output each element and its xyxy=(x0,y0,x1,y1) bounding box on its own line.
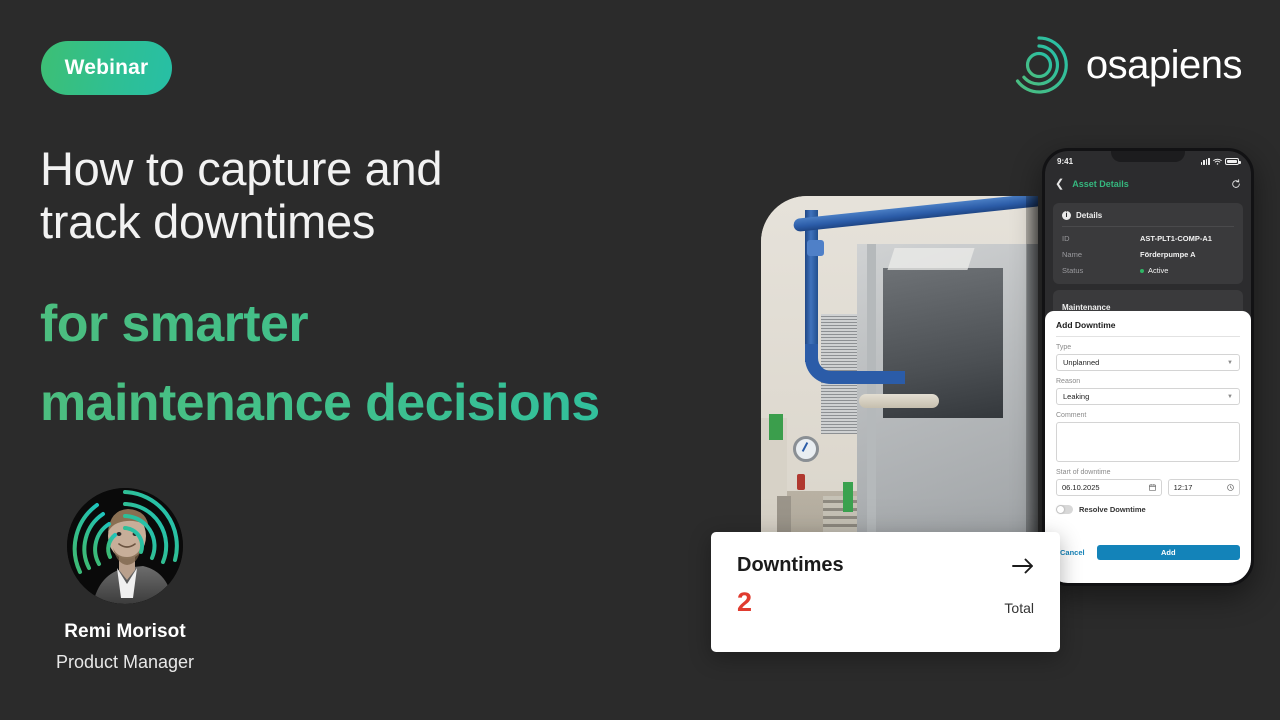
chevron-down-icon: ▼ xyxy=(1227,360,1233,366)
details-card-title: Details xyxy=(1076,211,1102,220)
add-button[interactable]: Add xyxy=(1097,545,1240,560)
detail-key: Status xyxy=(1062,266,1140,275)
speaker-name: Remi Morisot xyxy=(40,621,210,643)
downtimes-total-label: Total xyxy=(1004,600,1034,616)
app-bar: ❮ Asset Details xyxy=(1045,171,1251,197)
app-bar-title: Asset Details xyxy=(1072,179,1129,189)
page-title: How to capture and track downtimes xyxy=(40,143,740,248)
reason-select[interactable]: Leaking ▼ xyxy=(1056,388,1240,405)
speaker-role: Product Manager xyxy=(40,652,210,673)
brand-name: osapiens xyxy=(1086,43,1242,88)
battery-full-icon xyxy=(1225,158,1239,165)
chevron-down-icon: ▼ xyxy=(1227,394,1233,400)
cancel-button[interactable]: Cancel xyxy=(1056,548,1089,557)
sheet-title: Add Downtime xyxy=(1056,320,1240,337)
detail-key: Name xyxy=(1062,250,1140,259)
resolve-downtime-label: Resolve Downtime xyxy=(1079,505,1146,514)
time-input[interactable]: 12:17 xyxy=(1168,479,1240,496)
downtimes-count: 2 xyxy=(737,589,752,616)
clock-icon[interactable] xyxy=(1227,484,1234,491)
downtimes-card[interactable]: Downtimes 2 Total xyxy=(711,532,1060,652)
comment-input[interactable] xyxy=(1056,422,1240,462)
downtimes-card-title: Downtimes xyxy=(737,554,844,577)
detail-value: AST-PLT1-COMP-A1 xyxy=(1140,234,1212,243)
reason-value: Leaking xyxy=(1063,392,1089,401)
webinar-badge: Webinar xyxy=(41,41,172,95)
osapiens-logo-icon xyxy=(1008,34,1070,96)
status-bar: 9:41 xyxy=(1045,151,1251,171)
details-card: i Details ID AST-PLT1-COMP-A1 Name Förde… xyxy=(1053,203,1243,284)
cellular-bars-icon xyxy=(1201,158,1210,165)
type-value: Unplanned xyxy=(1063,358,1099,367)
avatar-rings-icon xyxy=(67,488,183,604)
status-badge: Active xyxy=(1140,266,1168,275)
calendar-icon[interactable] xyxy=(1149,484,1156,491)
status-dot-icon xyxy=(1140,269,1144,273)
datetime-row: 06.10.2025 12:17 xyxy=(1056,479,1240,496)
detail-key: ID xyxy=(1062,234,1140,243)
type-select[interactable]: Unplanned ▼ xyxy=(1056,354,1240,371)
phone-notch xyxy=(1111,151,1185,162)
downtimes-card-footer: 2 Total xyxy=(737,589,1034,616)
speaker-block: Remi Morisot Product Manager xyxy=(40,488,210,673)
resolve-downtime-toggle[interactable] xyxy=(1056,505,1073,514)
downtimes-card-header: Downtimes xyxy=(737,554,1034,577)
details-card-header: i Details xyxy=(1062,211,1234,227)
status-label: Active xyxy=(1148,266,1168,275)
refresh-icon[interactable] xyxy=(1231,179,1241,189)
status-icons xyxy=(1201,158,1239,165)
start-of-downtime-label: Start of downtime xyxy=(1056,469,1240,476)
comment-label: Comment xyxy=(1056,412,1240,419)
phone-mockup: 9:41 ❮ Asset Details xyxy=(1042,148,1254,586)
brand-logo: osapiens xyxy=(1008,34,1242,96)
sheet-actions: Cancel Add xyxy=(1056,545,1240,560)
add-downtime-sheet: Add Downtime Type Unplanned ▼ Reason Lea… xyxy=(1045,311,1251,583)
detail-row-status: Status Active xyxy=(1062,266,1234,275)
wifi-icon xyxy=(1213,158,1222,165)
date-value: 06.10.2025 xyxy=(1062,483,1100,492)
page-subtitle: for smarter maintenance decisions xyxy=(40,285,800,443)
resolve-downtime-row: Resolve Downtime xyxy=(1056,505,1240,514)
time-value: 12:17 xyxy=(1174,483,1193,492)
arrow-right-icon[interactable] xyxy=(1012,557,1034,575)
status-time: 9:41 xyxy=(1057,157,1073,166)
detail-row-name: Name Förderpumpe A xyxy=(1062,250,1234,259)
subtitle-line-2: maintenance decisions xyxy=(40,364,800,443)
info-icon: i xyxy=(1062,211,1071,220)
detail-row-id: ID AST-PLT1-COMP-A1 xyxy=(1062,234,1234,243)
chevron-left-icon[interactable]: ❮ xyxy=(1055,179,1064,190)
subtitle-line-1: for smarter xyxy=(40,285,800,364)
date-input[interactable]: 06.10.2025 xyxy=(1056,479,1162,496)
phone-screen: 9:41 ❮ Asset Details xyxy=(1045,151,1251,583)
type-label: Type xyxy=(1056,344,1240,351)
detail-value: Förderpumpe A xyxy=(1140,250,1196,259)
headline-line-1: How to capture and xyxy=(40,143,740,196)
headline-line-2: track downtimes xyxy=(40,196,740,249)
reason-label: Reason xyxy=(1056,378,1240,385)
avatar xyxy=(67,488,183,604)
webinar-badge-label: Webinar xyxy=(65,56,149,80)
